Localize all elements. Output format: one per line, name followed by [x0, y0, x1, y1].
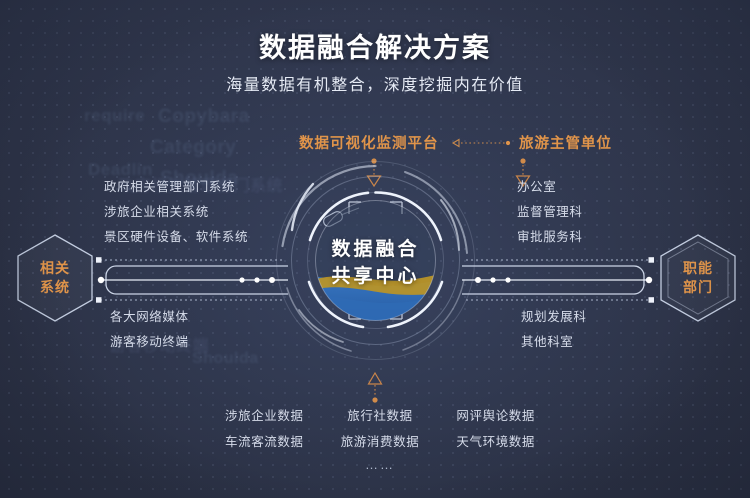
right-column-bottom: 规划发展科 其他科室: [521, 305, 587, 355]
list-item[interactable]: 涉旅企业相关系统: [104, 200, 248, 225]
hub-line1: 数据融合: [273, 236, 478, 263]
watermark-text: Copybara: [158, 106, 250, 128]
right-column-top: 办公室 监督管理科 审批服务科: [517, 175, 583, 250]
hexagon-badge-functional-depts[interactable]: 职能 部门: [657, 232, 739, 324]
grid-ellipsis: ……: [225, 457, 535, 472]
list-item[interactable]: 政府相关管理部门系统: [104, 175, 248, 200]
top-label-row: 数据可视化监测平台 旅游主管单位: [0, 132, 750, 154]
list-item[interactable]: 各大网络媒体: [110, 305, 189, 330]
page-title: 数据融合解决方案: [0, 26, 750, 65]
list-item[interactable]: 规划发展科: [521, 305, 587, 330]
left-column-bottom: 各大网络媒体 游客移动终端: [110, 305, 189, 355]
bottom-grid-row: 车流客流数据 旅游消费数据 天气环境数据: [225, 429, 535, 455]
grid-item[interactable]: 网评舆论数据: [439, 403, 535, 429]
grid-item[interactable]: 旅行社数据: [332, 403, 428, 429]
dotted-arrow-icon: [450, 138, 512, 148]
grid-item[interactable]: 旅游消费数据: [332, 429, 428, 455]
hexagon-left-line2: 系统: [40, 278, 70, 297]
hexagon-right-text: 职能 部门: [657, 232, 739, 324]
list-item[interactable]: 办公室: [517, 175, 583, 200]
watermark-text: Shoulda: [192, 350, 259, 368]
up-chevron-icon-bottom: [364, 370, 386, 404]
watermark-text: require: [84, 106, 145, 126]
hexagon-right-line1: 职能: [683, 259, 713, 278]
label-visualization-platform[interactable]: 数据可视化监测平台: [299, 132, 439, 153]
data-fusion-hub[interactable]: 数据融合 共享中心: [273, 158, 478, 363]
list-item[interactable]: 其他科室: [521, 330, 587, 355]
grid-item[interactable]: 车流客流数据: [225, 429, 321, 455]
bottom-grid-row: 涉旅企业数据 旅行社数据 网评舆论数据: [225, 403, 535, 429]
list-item[interactable]: 审批服务科: [517, 225, 583, 250]
hexagon-left-line1: 相关: [40, 259, 70, 278]
hexagon-right-line2: 部门: [683, 278, 713, 297]
grid-item[interactable]: 涉旅企业数据: [225, 403, 321, 429]
bottom-data-grid: 涉旅企业数据 旅行社数据 网评舆论数据 车流客流数据 旅游消费数据 天气环境数据…: [225, 403, 535, 472]
hexagon-left-text: 相关 系统: [14, 232, 96, 324]
hub-label: 数据融合 共享中心: [273, 236, 478, 290]
left-connector-pipe: [92, 256, 292, 304]
right-connector-pipe: [458, 256, 658, 304]
list-item[interactable]: 游客移动终端: [110, 330, 189, 355]
list-item[interactable]: 监督管理科: [517, 200, 583, 225]
list-item[interactable]: 景区硬件设备、软件系统: [104, 225, 248, 250]
hexagon-badge-related-systems[interactable]: 相关 系统: [14, 232, 96, 324]
page-subtitle: 海量数据有机整合，深度挖掘内在价值: [0, 71, 750, 95]
infographic-canvas: Copybara Category Shoulda require Deadli…: [0, 0, 750, 498]
left-column-top: 政府相关管理部门系统 涉旅企业相关系统 景区硬件设备、软件系统: [104, 175, 248, 250]
label-tourism-authority[interactable]: 旅游主管单位: [519, 132, 612, 153]
hub-line2: 共享中心: [273, 263, 478, 290]
grid-item[interactable]: 天气环境数据: [439, 429, 535, 455]
